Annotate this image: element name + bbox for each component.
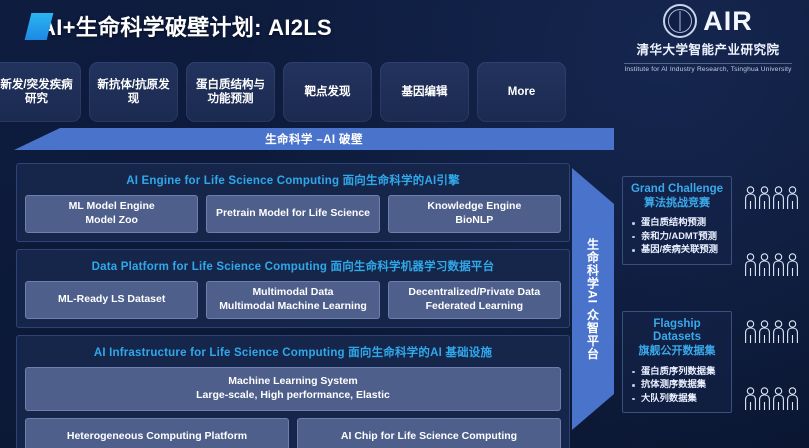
card-knowledge-engine[interactable]: Knowledge EngineBioNLP bbox=[388, 195, 561, 233]
panel-title-data-platform: Data Platform for Life Science Computing… bbox=[25, 258, 561, 274]
panel-infra-full-row: Machine Learning SystemLarge-scale, High… bbox=[25, 367, 561, 411]
card-ml-model-engine[interactable]: ML Model EngineModel Zoo bbox=[25, 195, 198, 233]
list-item: 蛋白质序列数据集 bbox=[630, 365, 726, 378]
people-group-icon bbox=[744, 253, 799, 282]
card-multimodal-data[interactable]: Multimodal DataMultimodal Machine Learni… bbox=[206, 281, 379, 319]
list-item: 大队列数据集 bbox=[630, 392, 726, 405]
logo-mark-text: AIR bbox=[703, 8, 753, 35]
person-icon bbox=[744, 253, 757, 282]
topic-card-gene-editing[interactable]: 基因编辑 bbox=[380, 62, 469, 122]
card-ml-ready-dataset[interactable]: ML-Ready LS Dataset bbox=[25, 281, 198, 319]
panel-ai-infrastructure: AI Infrastructure for Life Science Compu… bbox=[16, 335, 570, 448]
panel-title-ai-engine: AI Engine for Life Science Computing 面向生… bbox=[25, 172, 561, 188]
panel-ai-engine: AI Engine for Life Science Computing 面向生… bbox=[16, 163, 570, 242]
person-icon bbox=[744, 320, 757, 349]
card-machine-learning-system[interactable]: Machine Learning SystemLarge-scale, High… bbox=[25, 367, 561, 411]
right-box-flagship-datasets: Flagship Datasets 旗舰公开数据集 蛋白质序列数据集 抗体测序数… bbox=[622, 311, 732, 413]
vertical-arrow-band: 生命科学AI 众智平台 bbox=[572, 168, 614, 430]
person-icon bbox=[786, 320, 799, 344]
person-icon bbox=[744, 186, 757, 210]
card-ai-chip[interactable]: AI Chip for Life Science Computing bbox=[297, 418, 561, 448]
horizontal-band-label: 生命科学 –AI 破壁 bbox=[265, 131, 363, 147]
topic-card-row: 新发/突发疾病研究 新抗体/抗原发现 蛋白质结构与功能预测 靶点发现 基因编辑 … bbox=[0, 62, 566, 122]
list-item: 基因/疾病关联预测 bbox=[630, 243, 726, 256]
list-item: 蛋白质结构预测 bbox=[630, 216, 726, 229]
people-group-icon bbox=[744, 186, 799, 215]
topic-card-protein-structure[interactable]: 蛋白质结构与功能预测 bbox=[186, 62, 275, 122]
panel-data-platform: Data Platform for Life Science Computing… bbox=[16, 249, 570, 328]
grand-challenge-bullets: 蛋白质结构预测 亲和力/ADMT预测 基因/疾病关联预测 bbox=[628, 216, 726, 256]
card-pretrain-model[interactable]: Pretrain Model for Life Science bbox=[206, 195, 379, 233]
panel-data-platform-cards: ML-Ready LS Dataset Multimodal DataMulti… bbox=[25, 281, 561, 319]
person-icon bbox=[758, 387, 771, 411]
tsinghua-emblem-icon bbox=[663, 4, 697, 38]
person-icon bbox=[772, 186, 785, 210]
person-icon bbox=[758, 387, 771, 416]
person-icon bbox=[744, 387, 757, 416]
person-icon bbox=[772, 186, 785, 215]
person-icon bbox=[758, 320, 771, 349]
person-icon bbox=[744, 320, 757, 344]
panel-ai-engine-cards: ML Model EngineModel Zoo Pretrain Model … bbox=[25, 195, 561, 233]
architecture-stack: AI Engine for Life Science Computing 面向生… bbox=[16, 163, 570, 448]
air-logo: AIR 清华大学智能产业研究院 Institute for AI Industr… bbox=[617, 4, 799, 76]
person-icon bbox=[758, 186, 771, 215]
person-icon bbox=[786, 387, 799, 411]
person-icon bbox=[786, 253, 799, 277]
person-icon bbox=[786, 253, 799, 282]
panel-title-ai-infrastructure: AI Infrastructure for Life Science Compu… bbox=[25, 344, 561, 360]
people-group-icon bbox=[744, 387, 799, 416]
person-icon bbox=[772, 253, 785, 282]
grand-challenge-title-en: Grand Challenge bbox=[628, 183, 726, 196]
logo-top-row: AIR bbox=[617, 4, 799, 38]
logo-english-name: Institute for AI Industry Research, Tsin… bbox=[624, 63, 791, 73]
grand-challenge-title-cn: 算法挑战竞赛 bbox=[628, 197, 726, 210]
horizontal-arrow-band: 生命科学 –AI 破壁 bbox=[14, 128, 614, 150]
person-icon bbox=[744, 186, 757, 215]
flagship-datasets-title-cn: 旗舰公开数据集 bbox=[628, 345, 726, 358]
person-icon bbox=[786, 387, 799, 416]
person-icon bbox=[744, 253, 757, 277]
person-icon bbox=[758, 253, 771, 277]
page-title: AI+生命科学破壁计划: AI2LS bbox=[28, 10, 332, 42]
person-icon bbox=[758, 253, 771, 282]
title-text: AI+生命科学破壁计划: AI2LS bbox=[40, 10, 332, 42]
vertical-band-label: 生命科学AI 众智平台 bbox=[585, 238, 602, 360]
right-box-grand-challenge: Grand Challenge 算法挑战竞赛 蛋白质结构预测 亲和力/ADMT预… bbox=[622, 176, 732, 265]
card-federated-learning[interactable]: Decentralized/Private DataFederated Lear… bbox=[388, 281, 561, 319]
person-icon bbox=[772, 320, 785, 344]
list-item: 亲和力/ADMT预测 bbox=[630, 230, 726, 243]
person-icon bbox=[758, 320, 771, 344]
logo-chinese-name: 清华大学智能产业研究院 bbox=[617, 39, 799, 58]
card-heterogeneous-computing[interactable]: Heterogeneous Computing Platform bbox=[25, 418, 289, 448]
person-icon bbox=[758, 186, 771, 210]
flagship-datasets-bullets: 蛋白质序列数据集 抗体测序数据集 大队列数据集 bbox=[628, 365, 726, 405]
topic-card-emerging-disease[interactable]: 新发/突发疾病研究 bbox=[0, 62, 81, 122]
flagship-datasets-title-en: Flagship Datasets bbox=[628, 318, 726, 344]
topic-card-antibody-antigen[interactable]: 新抗体/抗原发现 bbox=[89, 62, 178, 122]
topic-card-target-discovery[interactable]: 靶点发现 bbox=[283, 62, 372, 122]
people-group-icon bbox=[744, 320, 799, 349]
list-item: 抗体测序数据集 bbox=[630, 378, 726, 391]
person-icon bbox=[786, 186, 799, 215]
person-icon bbox=[744, 387, 757, 411]
slide-canvas: AI+生命科学破壁计划: AI2LS AIR 清华大学智能产业研究院 Insti… bbox=[0, 0, 809, 448]
panel-infra-cards: Heterogeneous Computing Platform AI Chip… bbox=[25, 418, 561, 448]
person-icon bbox=[786, 320, 799, 349]
person-icon bbox=[772, 387, 785, 416]
person-icon bbox=[772, 387, 785, 411]
person-icon bbox=[772, 253, 785, 277]
topic-card-more[interactable]: More bbox=[477, 62, 566, 122]
person-icon bbox=[786, 186, 799, 210]
person-icon bbox=[772, 320, 785, 349]
